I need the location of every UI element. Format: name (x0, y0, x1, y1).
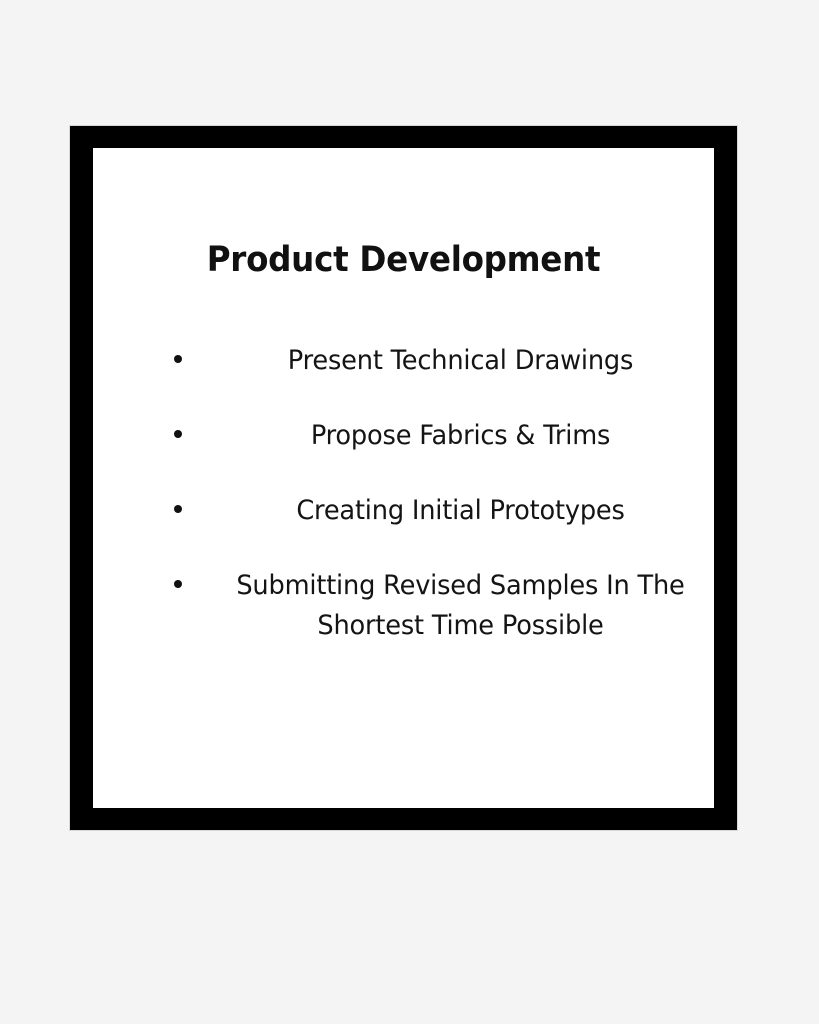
slide-card: Product Development Present Technical Dr… (93, 148, 714, 808)
slide-frame-border: Product Development Present Technical Dr… (70, 126, 737, 830)
bullet-list: Present Technical Drawings Propose Fabri… (93, 341, 714, 646)
list-item-label: Submitting Revised Samples In The Shorte… (231, 566, 690, 646)
list-item-label: Present Technical Drawings (231, 341, 690, 381)
list-item: Creating Initial Prototypes (93, 491, 714, 531)
list-item: Propose Fabrics & Trims (93, 416, 714, 456)
bullet-dot-icon (174, 580, 182, 588)
list-item-label: Propose Fabrics & Trims (231, 416, 690, 456)
list-item: Submitting Revised Samples In The Shorte… (93, 566, 714, 646)
list-item-label: Creating Initial Prototypes (231, 491, 690, 531)
bullet-dot-icon (174, 355, 182, 363)
page-title: Product Development (115, 239, 693, 281)
bullet-dot-icon (174, 505, 182, 513)
list-item: Present Technical Drawings (93, 341, 714, 381)
slide-canvas: Product Development Present Technical Dr… (0, 0, 819, 1024)
bullet-dot-icon (174, 430, 182, 438)
